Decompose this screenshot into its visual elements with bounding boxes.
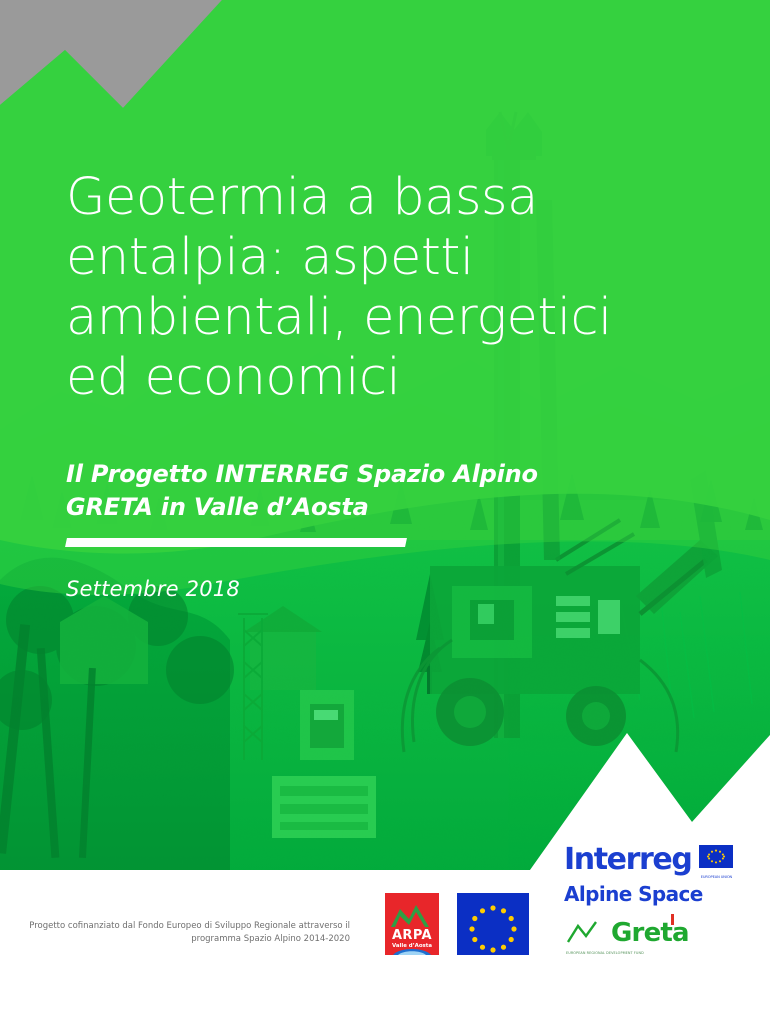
eu-emblem-small: EUROPEAN UNION	[699, 845, 733, 880]
funding-statement: Progetto cofinanziato dal Fondo Europeo …	[20, 920, 350, 946]
greta-wordmark: Greta	[611, 920, 689, 946]
photo-bottom-edge	[0, 870, 560, 880]
headline-block: Geotermia a bassa entalpia: aspetti ambi…	[66, 168, 626, 601]
page-title: Geotermia a bassa entalpia: aspetti ambi…	[66, 168, 626, 408]
svg-text:ARPA: ARPA	[392, 928, 432, 943]
greta-accent-mark	[671, 914, 674, 925]
svg-text:Valle d’Aosta: Valle d’Aosta	[392, 943, 432, 949]
greta-project-logo: Greta EUROPEAN REGIONAL DEVELOPMENT FUND	[566, 920, 766, 956]
document-cover-page: Geotermia a bassa entalpia: aspetti ambi…	[0, 0, 770, 1024]
interreg-alpine-space-logo: Interreg	[564, 845, 764, 906]
eu-flag-icon	[699, 845, 733, 868]
arpa-valle-daosta-logo: ARPA Valle d’Aosta	[385, 893, 439, 955]
greta-zigzag-icon	[566, 920, 606, 946]
eu-emblem-caption: EUROPEAN UNION	[699, 873, 733, 880]
cover-hero: Geotermia a bassa entalpia: aspetti ambi…	[0, 0, 770, 880]
alpine-space-label: Alpine Space	[564, 880, 764, 906]
publication-date: Settembre 2018	[66, 547, 626, 601]
european-union-flag	[457, 893, 529, 955]
interreg-wordmark: Interreg	[564, 845, 691, 875]
page-subtitle: Il Progetto INTERREG Spazio Alpino GRETA…	[66, 408, 626, 524]
title-divider	[65, 538, 407, 547]
